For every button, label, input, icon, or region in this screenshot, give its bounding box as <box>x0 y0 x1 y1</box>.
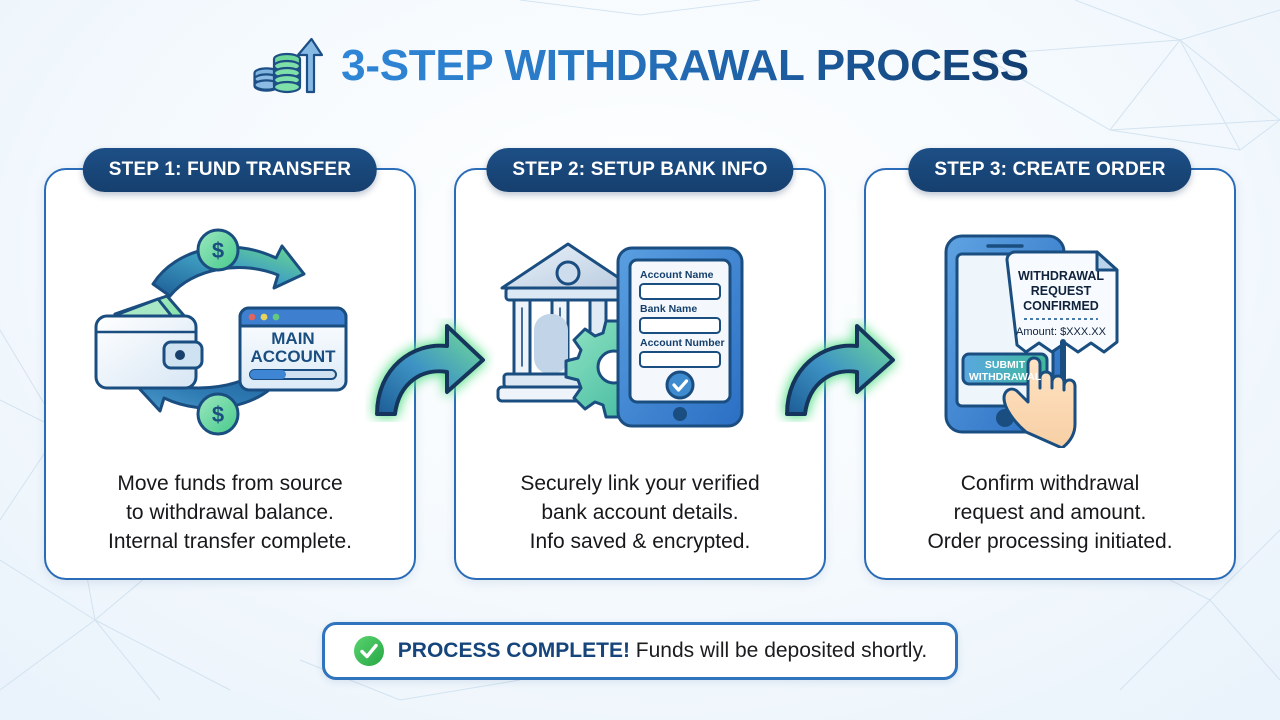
coin-symbol-top: $ <box>212 238 224 263</box>
page-header: 3-STEP WITHDRAWAL PROCESS <box>0 34 1280 98</box>
main-account-line1: MAIN <box>271 329 314 348</box>
step-3-illustration: WITHDRAWAL REQUEST CONFIRMED Amount: $XX… <box>866 214 1234 452</box>
step-2-badge: STEP 2: SETUP BANK INFO <box>486 148 793 192</box>
submit-button-line-2: WITHDRAWAL <box>969 371 1042 383</box>
step-3-badge: STEP 3: CREATE ORDER <box>908 148 1191 192</box>
step-2-description: Securely link your verified bank account… <box>470 469 810 556</box>
main-account-line2: ACCOUNT <box>251 347 337 366</box>
step-2-desc-line-2: bank account details. <box>470 498 810 527</box>
step-3-desc-line-2: request and amount. <box>880 498 1220 527</box>
footer-strong-text: PROCESS COMPLETE! <box>398 639 630 662</box>
step-card-1[interactable]: STEP 1: FUND TRANSFER <box>44 168 416 580</box>
step-1-desc-line-3: Internal transfer complete. <box>60 527 400 556</box>
process-complete-banner: PROCESS COMPLETE! Funds will be deposite… <box>322 622 958 680</box>
receipt-amount: Amount: $XXX.XX <box>1016 326 1107 338</box>
footer-rest-text: Funds will be deposited shortly. <box>630 639 927 662</box>
coin-symbol-bottom: $ <box>212 402 224 427</box>
step-3-description: Confirm withdrawal request and amount. O… <box>880 469 1220 556</box>
infographic-stage: 3-STEP WITHDRAWAL PROCESS STEP 1: FUND T… <box>0 0 1280 720</box>
step-2-illustration: Account Name Bank Name Account Number <box>456 214 824 452</box>
step-3-desc-line-1: Confirm withdrawal <box>880 469 1220 498</box>
step-1-desc-line-2: to withdrawal balance. <box>60 498 400 527</box>
field-label-account-name: Account Name <box>640 269 714 281</box>
arrow-step1-to-step2 <box>365 318 495 422</box>
step-3-desc-line-3: Order processing initiated. <box>880 527 1220 556</box>
step-card-3[interactable]: STEP 3: CREATE ORDER <box>864 168 1236 580</box>
receipt-line-1: WITHDRAWAL <box>1018 269 1104 283</box>
step-1-badge: STEP 1: FUND TRANSFER <box>83 148 377 192</box>
submit-button-line-1: SUBMIT <box>985 359 1026 371</box>
field-label-account-number: Account Number <box>640 337 725 349</box>
step-2-desc-line-1: Securely link your verified <box>470 469 810 498</box>
step-card-2[interactable]: STEP 2: SETUP BANK INFO <box>454 168 826 580</box>
page-title: 3-STEP WITHDRAWAL PROCESS <box>341 41 1029 91</box>
green-check-circle-icon <box>353 635 385 667</box>
coins-growth-arrow-icon <box>251 36 323 98</box>
field-label-bank-name: Bank Name <box>640 303 697 315</box>
receipt-line-2: REQUEST <box>1031 284 1092 298</box>
step-1-description: Move funds from source to withdrawal bal… <box>60 469 400 556</box>
step-2-desc-line-3: Info saved & encrypted. <box>470 527 810 556</box>
footer-message: PROCESS COMPLETE! Funds will be deposite… <box>398 639 927 663</box>
step-1-illustration: MAIN ACCOUNT $ $ <box>46 214 414 452</box>
receipt-line-3: CONFIRMED <box>1023 299 1099 313</box>
step-1-desc-line-1: Move funds from source <box>60 469 400 498</box>
arrow-step2-to-step3 <box>775 318 905 422</box>
